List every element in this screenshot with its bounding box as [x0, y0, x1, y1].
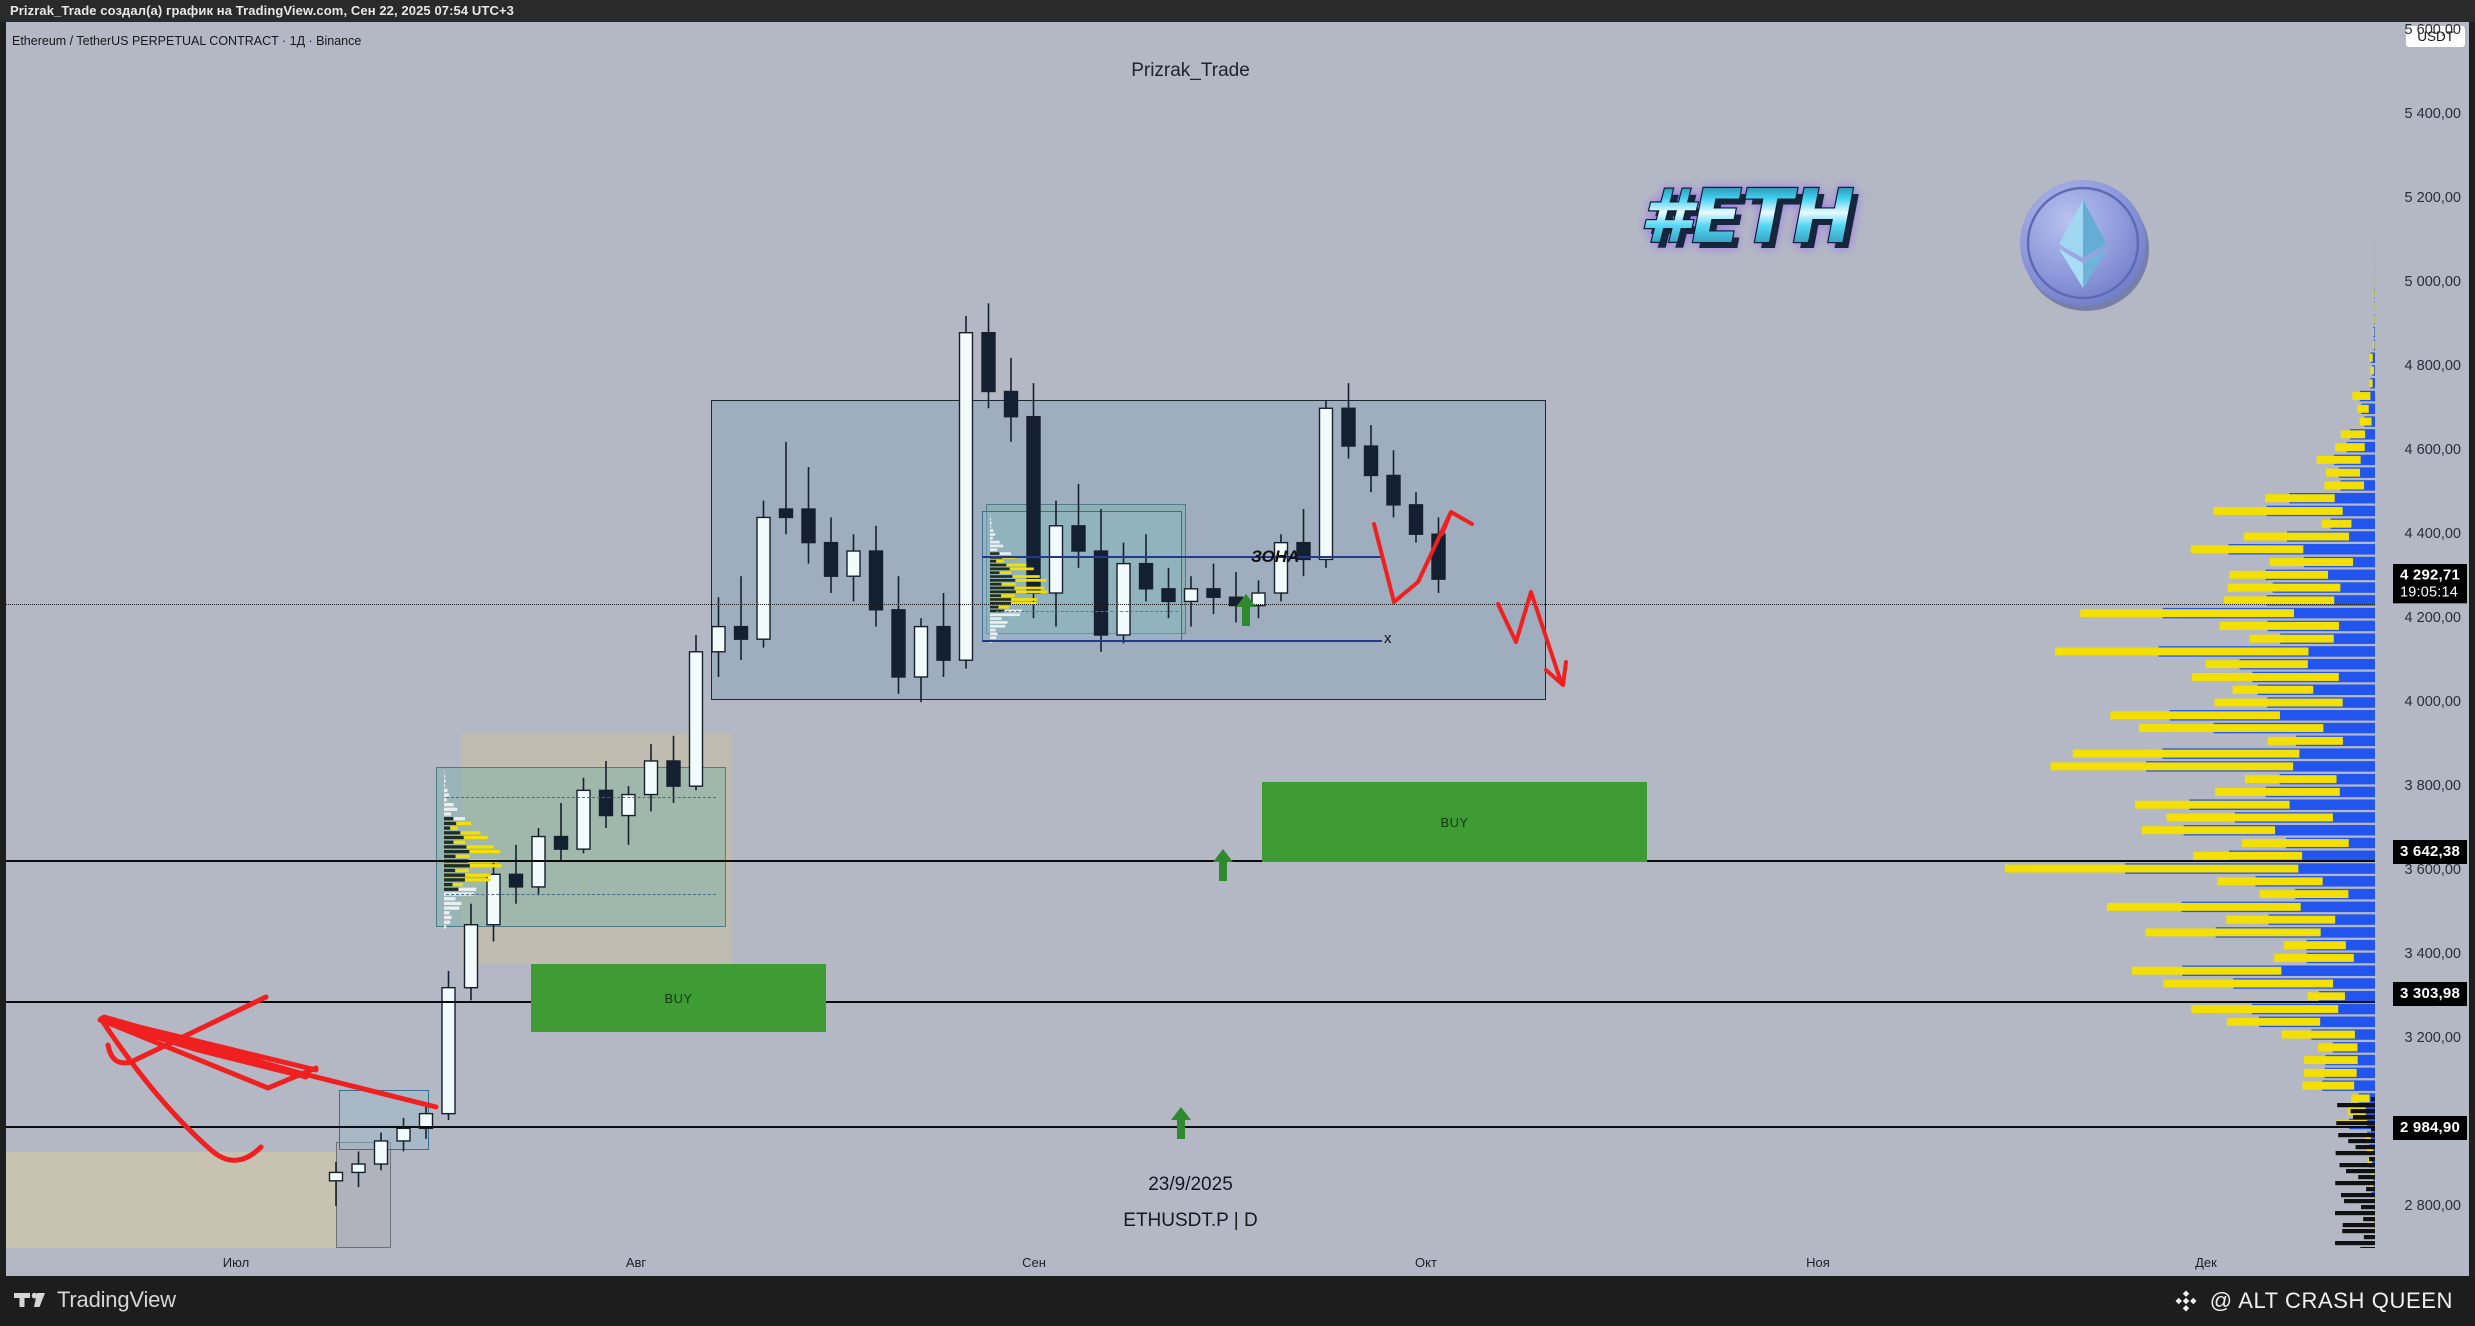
price-tick-label: 3 600,00 — [2405, 862, 2461, 878]
time-axis[interactable]: ИюлАвгСенОктНояДек — [6, 1248, 2469, 1276]
price-tick-label: 5 000,00 — [2405, 274, 2461, 290]
support-low-price[interactable]: 3 303,98 — [2393, 982, 2467, 1006]
support-mid-price[interactable]: 3 642,38 — [2393, 840, 2467, 864]
price-tick-label: 5 600,00 — [2405, 22, 2461, 38]
ethereum-coin-icon — [2011, 170, 2157, 316]
time-tick-label: Авг — [626, 1255, 646, 1270]
price-tick-label: 5 200,00 — [2405, 190, 2461, 206]
time-tick-label: Ноя — [1806, 1255, 1830, 1270]
price-tick-label: 5 400,00 — [2405, 106, 2461, 122]
last-price[interactable]: 4 292,7119:05:14 — [2393, 566, 2467, 604]
chart-surface[interactable]: ЗОНА x BUY BUY — [6, 22, 2469, 1276]
price-tick-label: 4 400,00 — [2405, 526, 2461, 542]
price-axis[interactable]: USDT 5 600,005 400,005 200,005 000,004 8… — [2375, 22, 2469, 1248]
chart-user-title: Prizrak_Trade — [6, 60, 2375, 82]
tradingview-logo[interactable]: TradingView — [14, 1287, 176, 1313]
svg-text:#ETH: #ETH — [1640, 174, 1854, 260]
channel-watermark: @ ALT CRASH QUEEN — [2173, 1288, 2453, 1314]
symbol-legend[interactable]: Ethereum / TetherUS PERPETUAL CONTRACT ·… — [12, 34, 361, 48]
eth-sticker-text: #ETH #ETH — [1640, 174, 1860, 266]
chart-date-label: 23/9/2025 — [6, 1174, 2375, 1196]
chart-plot-area[interactable]: ЗОНА x BUY BUY — [6, 22, 2375, 1248]
binance-diamond-icon — [2173, 1288, 2199, 1314]
price-tick-label: 3 200,00 — [2405, 1030, 2461, 1046]
eth-hashtag-sticker: #ETH #ETH — [1638, 172, 1938, 272]
footer-bar: TradingView @ ALT CRASH QUEEN — [0, 1276, 2475, 1326]
price-tick-label: 4 800,00 — [2405, 358, 2461, 374]
cross-stroke-down-right — [104, 1017, 436, 1107]
tradingview-mark-icon — [14, 1289, 48, 1311]
time-tick-label: Сен — [1022, 1255, 1046, 1270]
price-tick-label: 4 000,00 — [2405, 694, 2461, 710]
chart-symbol-label: ETHUSDT.P | D — [6, 1210, 2375, 1232]
price-tick-label: 3 400,00 — [2405, 946, 2461, 962]
cross-stroke-up-right — [108, 997, 266, 1063]
price-tick-label: 4 200,00 — [2405, 610, 2461, 626]
price-tick-label: 2 800,00 — [2405, 1198, 2461, 1214]
countdown-text: 19:05:14 — [2400, 584, 2460, 600]
attribution-text: Prizrak_Trade создал(а) график на Tradin… — [10, 3, 514, 18]
price-tick-label: 3 800,00 — [2405, 778, 2461, 794]
watermark-text: @ ALT CRASH QUEEN — [2210, 1288, 2453, 1314]
tradingview-chart-screenshot: Prizrak_Trade создал(а) график на Tradin… — [0, 0, 2475, 1326]
attribution-bar: Prizrak_Trade создал(а) график на Tradin… — [0, 0, 2475, 22]
tradingview-wordmark: TradingView — [57, 1287, 176, 1313]
time-tick-label: Июл — [223, 1255, 249, 1270]
support-bottom-price[interactable]: 2 984,90 — [2393, 1116, 2467, 1140]
time-tick-label: Дек — [2195, 1255, 2217, 1270]
price-tick-label: 4 600,00 — [2405, 442, 2461, 458]
time-tick-label: Окт — [1415, 1255, 1437, 1270]
